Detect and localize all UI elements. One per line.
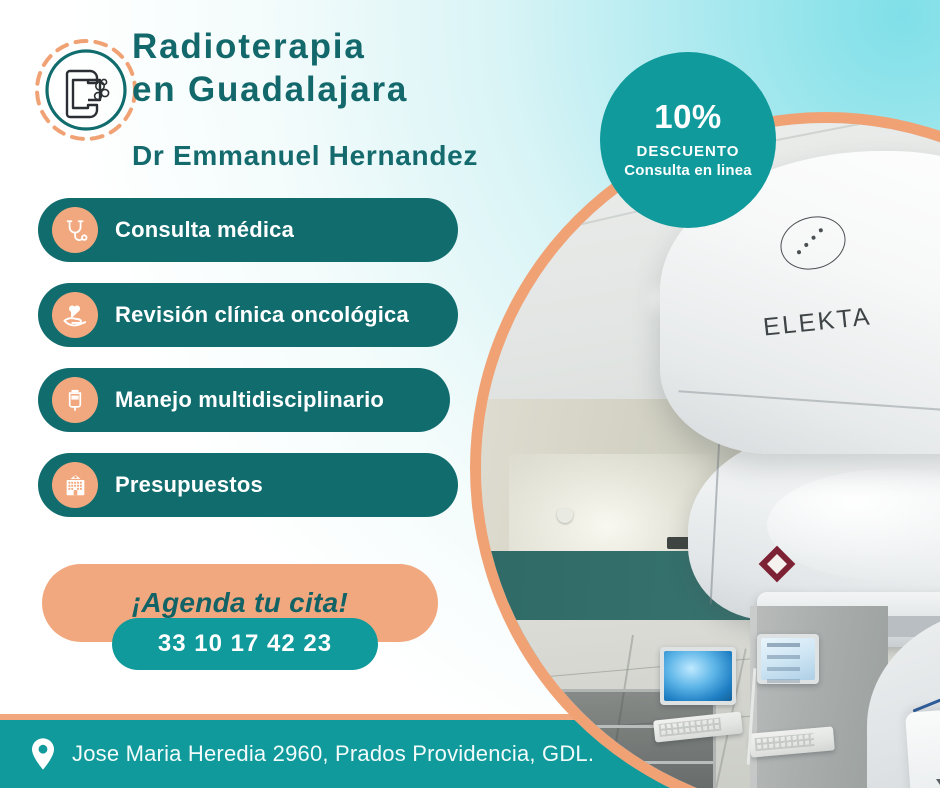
elekta-logo-icon <box>774 209 852 277</box>
cta-block: ¡Agenda tu cita! 33 10 17 42 23 <box>42 564 438 642</box>
stethoscope-icon <box>52 207 98 253</box>
service-label: Revisión clínica oncológica <box>115 302 409 328</box>
machine-brand-label: ELEKTA <box>762 303 873 343</box>
discount-label: DESCUENTO <box>637 143 740 160</box>
iv-drip-icon <box>52 377 98 423</box>
title-line-2: en Guadalajara <box>132 70 408 109</box>
service-item-presupuestos[interactable]: Presupuestos <box>38 453 458 517</box>
control-monitor-left <box>660 647 736 705</box>
cta-headline: ¡Agenda tu cita! <box>132 587 348 619</box>
control-monitor-right <box>757 634 819 684</box>
service-label: Consulta médica <box>115 217 294 243</box>
discount-percent: 10% <box>654 98 722 136</box>
doctor-name: Dr Emmanuel Hernandez <box>132 140 478 172</box>
services-list: Consulta médica Revisión clínica oncológ… <box>38 198 458 538</box>
service-item-revision-clinica[interactable]: Revisión clínica oncológica <box>38 283 458 347</box>
page-title: Radioterapia en Guadalajara <box>132 26 408 111</box>
service-item-manejo-multidisciplinario[interactable]: Manejo multidisciplinario <box>38 368 450 432</box>
discount-badge[interactable]: 10% DESCUENTO Consulta en linea <box>600 52 776 228</box>
poster-canvas: sa HD ELEKTA <box>0 0 940 788</box>
service-label: Manejo multidisciplinario <box>115 387 384 413</box>
service-item-consulta-medica[interactable]: Consulta médica <box>38 198 458 262</box>
hospital-building-icon <box>52 462 98 508</box>
phone-number: 33 10 17 42 23 <box>158 630 332 658</box>
hand-heart-icon <box>52 292 98 338</box>
phone-number-button[interactable]: 33 10 17 42 23 <box>112 618 378 670</box>
service-label: Presupuestos <box>115 472 263 498</box>
discount-sublabel: Consulta en linea <box>624 162 752 179</box>
radiotherapy-machine-icon <box>34 38 138 142</box>
location-pin-icon <box>30 737 56 771</box>
title-line-1: Radioterapia <box>132 27 366 66</box>
